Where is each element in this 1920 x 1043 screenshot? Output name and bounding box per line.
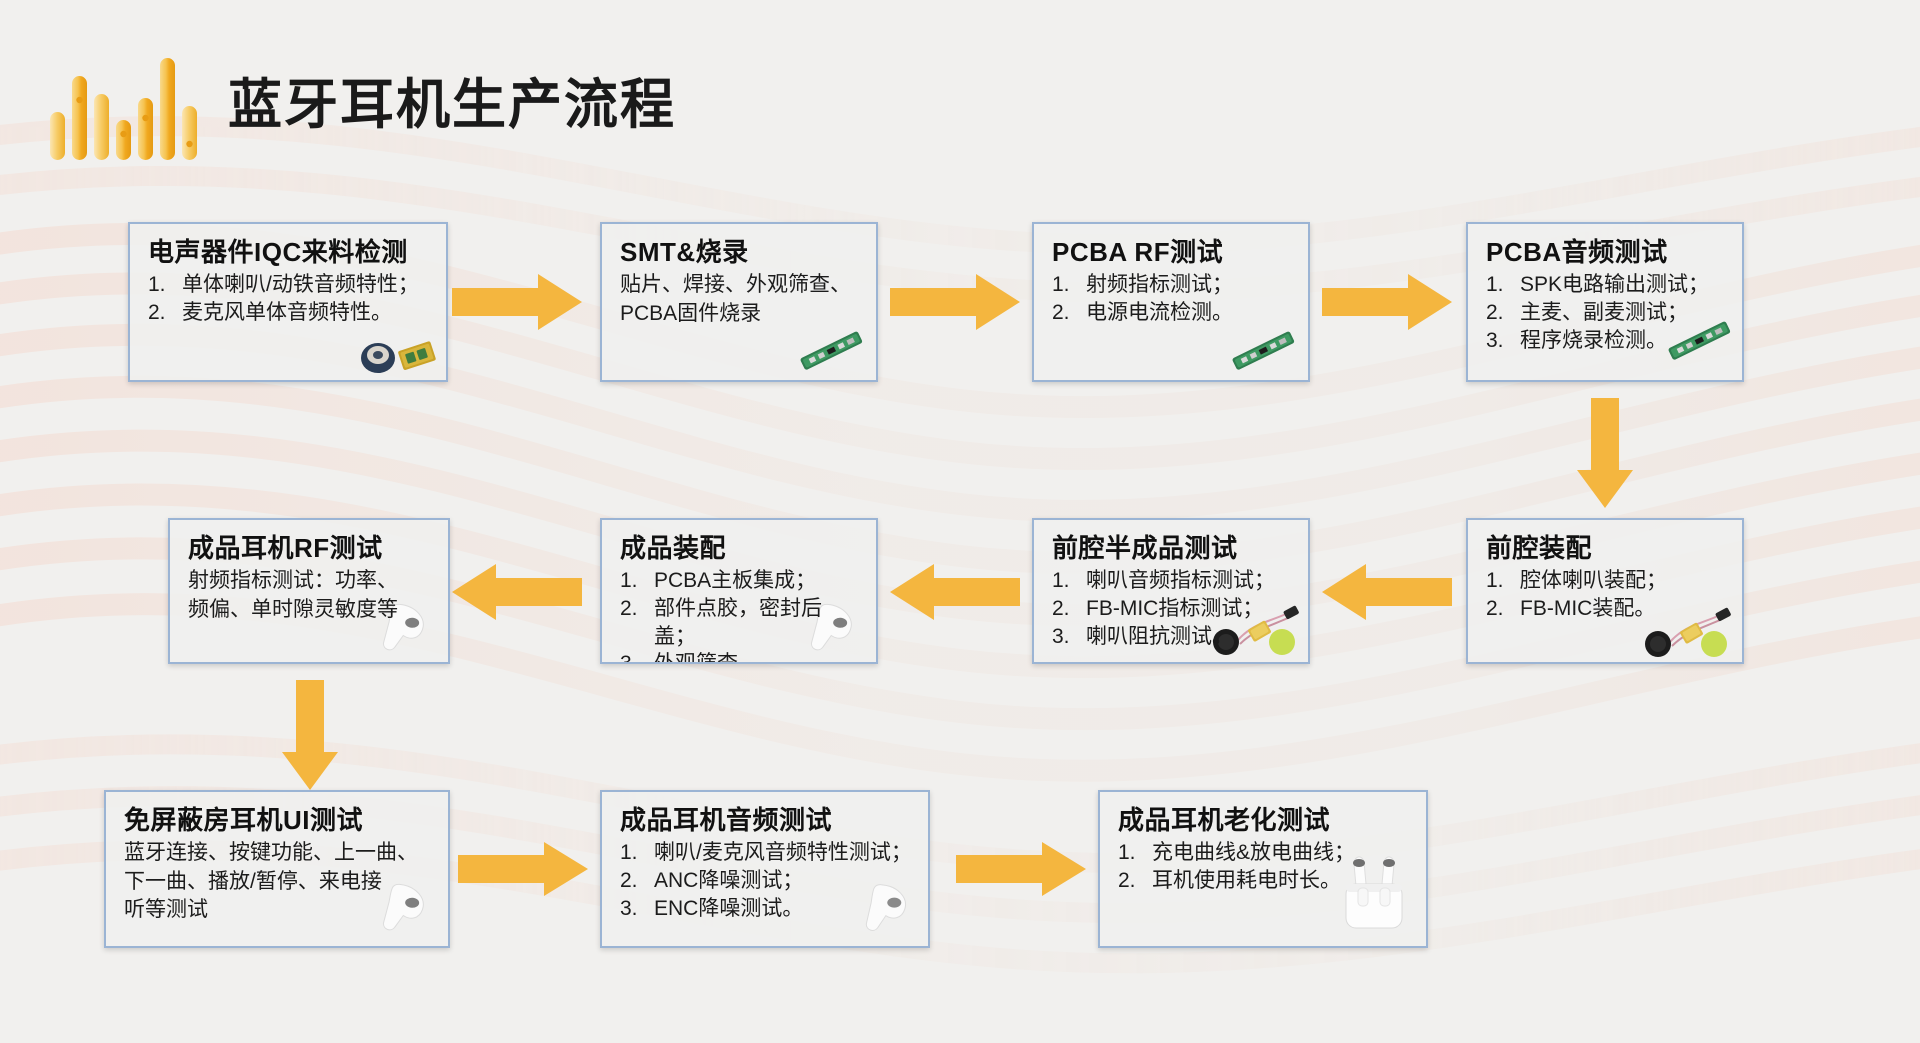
list-item: 3. ENC降噪测试。 (620, 895, 912, 923)
list-number: 2. (1486, 299, 1520, 327)
arrow-pcba-audio-to-front-cavity-assembly (1573, 398, 1637, 508)
list-text: 充电曲线&放电曲线； (1152, 839, 1410, 867)
list-text: FB-MIC指标测试； (1086, 595, 1292, 623)
list-number: 2. (1052, 595, 1086, 623)
list-text: ENC降噪测试。 (654, 895, 912, 923)
list-item: 1. SPK电路输出测试； (1486, 271, 1726, 299)
list-item: 1. 单体喇叭/动铁音频特性； (148, 271, 430, 299)
arrow-final-rf-to-ui-test (278, 680, 342, 790)
list-text: PCBA主板集成； (654, 567, 860, 595)
body-line: 下一曲、播放/暂停、来电接 (124, 868, 432, 897)
process-node-iqc[interactable]: 电声器件IQC来料检测 1. 单体喇叭/动铁音频特性； 2. 麦克风单体音频特性… (128, 222, 448, 382)
body-line: PCBA固件烧录 (620, 300, 860, 329)
node-body: 射频指标测试：功率、 频偏、单时隙灵敏度等 (188, 567, 432, 624)
arrow-final-audio-to-aging-test (956, 838, 1086, 900)
list-item: 2. ANC降噪测试； (620, 867, 912, 895)
list-item: 1. 充电曲线&放电曲线； (1118, 839, 1410, 867)
node-title: PCBA RF测试 (1052, 238, 1292, 267)
list-item: 1. PCBA主板集成； (620, 567, 860, 595)
list-text: 单体喇叭/动铁音频特性； (182, 271, 430, 299)
node-title: 前腔半成品测试 (1052, 534, 1292, 563)
process-node-ui-test[interactable]: 免屏蔽房耳机UI测试 蓝牙连接、按键功能、上一曲、 下一曲、播放/暂停、来电接 … (104, 790, 450, 948)
process-node-pcba-audio[interactable]: PCBA音频测试 1. SPK电路输出测试； 2. 主麦、副麦测试； 3. 程序… (1466, 222, 1744, 382)
list-text: 电源电流检测。 (1086, 299, 1292, 327)
list-text: 麦克风单体音频特性。 (182, 299, 430, 327)
node-title: 电声器件IQC来料检测 (148, 238, 430, 267)
arrow-front-cavity-test-to-final-assembly (890, 560, 1020, 624)
node-body: 1. PCBA主板集成； 2. 部件点胶，密封后盖； 3. 外观筛查。 (620, 567, 860, 664)
list-item: 2. 麦克风单体音频特性。 (148, 299, 430, 327)
list-item: 2. 电源电流检测。 (1052, 299, 1292, 327)
list-text: 喇叭音频指标测试； (1086, 567, 1292, 595)
arrow-front-cavity-assembly-to-front-cavity-test (1322, 560, 1452, 624)
list-number: 1. (1052, 271, 1086, 299)
list-text: SPK电路输出测试； (1520, 271, 1726, 299)
arrow-ui-test-to-final-audio (458, 838, 588, 900)
list-item: 2. 主麦、副麦测试； (1486, 299, 1726, 327)
list-number: 1. (1486, 271, 1520, 299)
list-item: 3. 程序烧录检测。 (1486, 327, 1726, 355)
list-item: 1. 射频指标测试； (1052, 271, 1292, 299)
list-item: 2. 耳机使用耗电时长。 (1118, 867, 1410, 895)
list-number: 2. (1052, 299, 1086, 327)
arrow-pcba-rf-to-pcba-audio (1322, 270, 1452, 334)
list-text: ANC降噪测试； (654, 867, 912, 895)
page-header: 蓝牙耳机生产流程 (0, 0, 1920, 180)
list-item: 2. FB-MIC装配。 (1486, 595, 1726, 623)
node-body: 蓝牙连接、按键功能、上一曲、 下一曲、播放/暂停、来电接 听等测试 (124, 839, 432, 925)
list-number: 2. (1486, 595, 1520, 623)
list-item: 3. 喇叭阻抗测试。 (1052, 623, 1292, 651)
list-item: 1. 喇叭音频指标测试； (1052, 567, 1292, 595)
process-node-pcba-rf[interactable]: PCBA RF测试 1. 射频指标测试； 2. 电源电流检测。 (1032, 222, 1310, 382)
list-number: 3. (1486, 327, 1520, 355)
list-item: 2. FB-MIC指标测试； (1052, 595, 1292, 623)
list-text: 耳机使用耗电时长。 (1152, 867, 1410, 895)
list-number: 2. (1118, 867, 1152, 895)
node-title: 前腔装配 (1486, 534, 1726, 563)
node-body: 1. 喇叭音频指标测试； 2. FB-MIC指标测试； 3. 喇叭阻抗测试。 (1052, 567, 1292, 650)
list-text: 射频指标测试； (1086, 271, 1292, 299)
node-title: 免屏蔽房耳机UI测试 (124, 806, 432, 835)
node-body: 1. 充电曲线&放电曲线； 2. 耳机使用耗电时长。 (1118, 839, 1410, 894)
list-text: 腔体喇叭装配； (1520, 567, 1726, 595)
node-body: 1. 单体喇叭/动铁音频特性； 2. 麦克风单体音频特性。 (148, 271, 430, 326)
list-number: 3. (1052, 623, 1086, 651)
list-item: 1. 腔体喇叭装配； (1486, 567, 1726, 595)
body-line: 频偏、单时隙灵敏度等 (188, 596, 432, 625)
node-title: SMT&烧录 (620, 238, 860, 267)
node-body: 1. 喇叭/麦克风音频特性测试； 2. ANC降噪测试； 3. ENC降噪测试。 (620, 839, 912, 922)
list-item: 3. 外观筛查。 (620, 650, 860, 664)
list-number: 2. (148, 299, 182, 327)
list-text: 程序烧录检测。 (1520, 327, 1726, 355)
process-node-final-audio[interactable]: 成品耳机音频测试 1. 喇叭/麦克风音频特性测试； 2. ANC降噪测试； 3.… (600, 790, 930, 948)
process-node-aging-test[interactable]: 成品耳机老化测试 1. 充电曲线&放电曲线； 2. 耳机使用耗电时长。 (1098, 790, 1428, 948)
node-body: 1. 腔体喇叭装配； 2. FB-MIC装配。 (1486, 567, 1726, 622)
list-number: 1. (1118, 839, 1152, 867)
list-text: FB-MIC装配。 (1520, 595, 1726, 623)
node-body: 1. 射频指标测试； 2. 电源电流检测。 (1052, 271, 1292, 326)
list-text: 喇叭/麦克风音频特性测试； (654, 839, 912, 867)
list-number: 2. (620, 595, 654, 650)
list-text: 主麦、副麦测试； (1520, 299, 1726, 327)
node-body: 贴片、焊接、外观筛查、 PCBA固件烧录 (620, 271, 860, 328)
list-item: 2. 部件点胶，密封后盖； (620, 595, 860, 650)
arrow-final-assembly-to-final-rf (452, 560, 582, 624)
process-node-final-assembly[interactable]: 成品装配 1. PCBA主板集成； 2. 部件点胶，密封后盖； 3. 外观筛查。 (600, 518, 878, 664)
body-line: 听等测试 (124, 896, 432, 925)
node-title: 成品耳机老化测试 (1118, 806, 1410, 835)
list-number: 1. (1052, 567, 1086, 595)
equalizer-bars-logo (48, 50, 208, 160)
list-text: 部件点胶，密封后盖； (654, 595, 860, 650)
list-text: 外观筛查。 (654, 650, 860, 664)
node-title: 成品耳机音频测试 (620, 806, 912, 835)
process-node-front-cavity-assembly[interactable]: 前腔装配 1. 腔体喇叭装配； 2. FB-MIC装配。 (1466, 518, 1744, 664)
process-node-smt[interactable]: SMT&烧录 贴片、焊接、外观筛查、 PCBA固件烧录 (600, 222, 878, 382)
process-node-front-cavity-test[interactable]: 前腔半成品测试 1. 喇叭音频指标测试； 2. FB-MIC指标测试； 3. 喇… (1032, 518, 1310, 664)
list-number: 1. (148, 271, 182, 299)
body-line: 蓝牙连接、按键功能、上一曲、 (124, 839, 432, 868)
body-line: 贴片、焊接、外观筛查、 (620, 271, 860, 300)
list-number: 1. (1486, 567, 1520, 595)
node-title: 成品装配 (620, 534, 860, 563)
node-title: 成品耳机RF测试 (188, 534, 432, 563)
body-line: 射频指标测试：功率、 (188, 567, 432, 596)
list-number: 3. (620, 650, 654, 664)
list-number: 2. (620, 867, 654, 895)
arrow-iqc-to-smt (452, 270, 582, 334)
arrow-smt-to-pcba-rf (890, 270, 1020, 334)
list-number: 3. (620, 895, 654, 923)
node-body: 1. SPK电路输出测试； 2. 主麦、副麦测试； 3. 程序烧录检测。 (1486, 271, 1726, 354)
page-title: 蓝牙耳机生产流程 (228, 78, 676, 132)
list-text: 喇叭阻抗测试。 (1086, 623, 1292, 651)
list-item: 1. 喇叭/麦克风音频特性测试； (620, 839, 912, 867)
process-node-final-rf[interactable]: 成品耳机RF测试 射频指标测试：功率、 频偏、单时隙灵敏度等 (168, 518, 450, 664)
list-number: 1. (620, 567, 654, 595)
list-number: 1. (620, 839, 654, 867)
node-title: PCBA音频测试 (1486, 238, 1726, 267)
